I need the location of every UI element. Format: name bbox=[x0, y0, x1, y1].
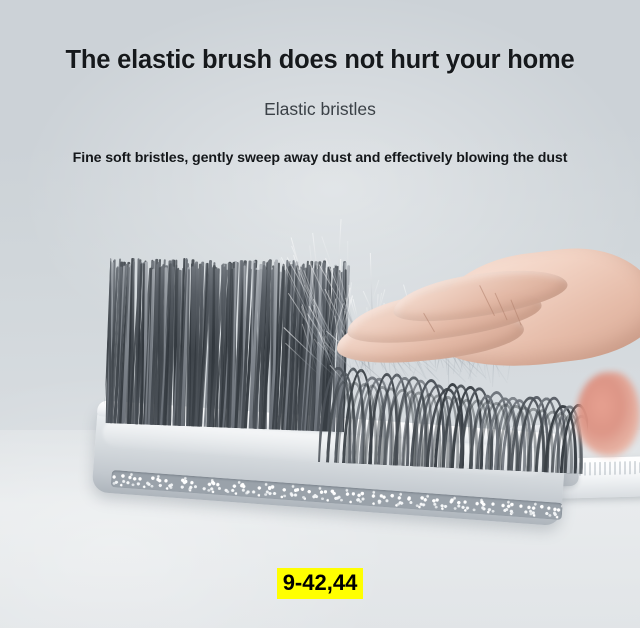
promo-image-canvas: The elastic brush does not hurt your hom… bbox=[0, 0, 640, 628]
brush-head-top-lip bbox=[97, 400, 567, 450]
upright-bristles bbox=[104, 243, 351, 432]
brush-neck bbox=[507, 424, 579, 488]
brush-grit-strip bbox=[111, 470, 563, 520]
finger-index bbox=[334, 300, 526, 369]
promo-subheadline: Elastic bristles bbox=[0, 99, 640, 120]
handle-grip-texture bbox=[564, 461, 640, 476]
background-glow bbox=[0, 0, 640, 628]
overlay-label-container: 9-42,44 bbox=[0, 568, 640, 599]
overlay-label-chip: 9-42,44 bbox=[277, 568, 364, 599]
thumb-tip bbox=[576, 372, 640, 456]
knuckle-crease-4 bbox=[423, 313, 435, 333]
knuckle-crease-1 bbox=[479, 285, 495, 316]
brush-handle bbox=[519, 456, 640, 499]
bent-bristles bbox=[318, 352, 591, 474]
product-brush-illustration bbox=[0, 0, 640, 628]
finger-ring bbox=[390, 260, 570, 329]
promo-headline: The elastic brush does not hurt your hom… bbox=[0, 46, 640, 75]
knuckle-crease-2 bbox=[494, 293, 507, 321]
promo-tagline: Fine soft bristles, gently sweep away du… bbox=[0, 150, 640, 166]
hand-back bbox=[422, 238, 640, 377]
brush-head-highlight bbox=[102, 418, 543, 478]
finger-middle bbox=[344, 279, 544, 352]
brush-head-body bbox=[92, 404, 567, 526]
stray-bristle-whiskers bbox=[0, 0, 640, 628]
knuckle-crease-3 bbox=[510, 299, 522, 325]
